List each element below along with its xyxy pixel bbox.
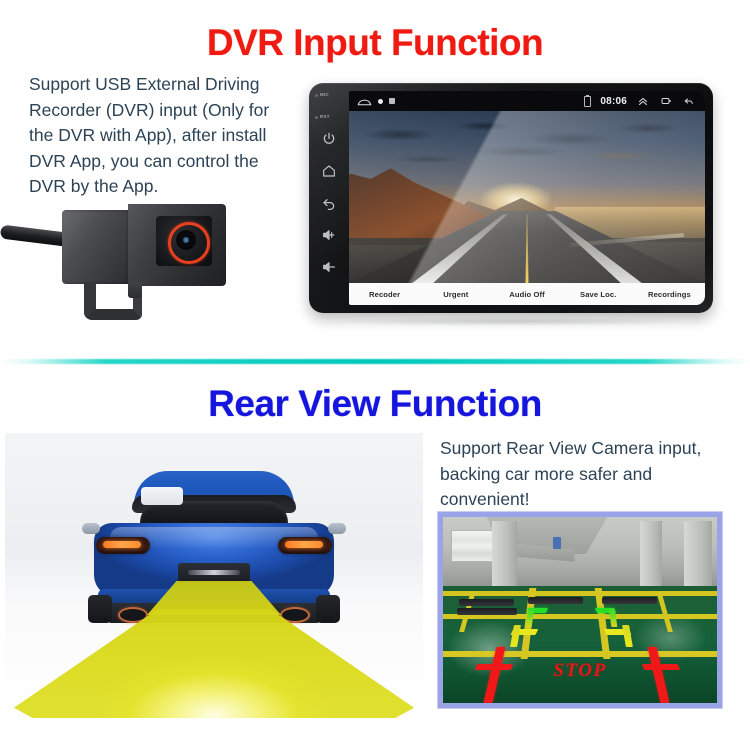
car-license-plate [178, 563, 250, 583]
back-arrow-icon[interactable] [682, 95, 696, 107]
toolbar-button-recoder[interactable]: Recoder [349, 290, 420, 299]
wallpaper-road-line-left [349, 214, 513, 283]
car-taillight-right [278, 537, 332, 554]
toolbar-button-audio-off[interactable]: Audio Off [491, 290, 562, 299]
toolbar-button-recordings[interactable]: Recordings [634, 290, 705, 299]
notification-badge-icon [389, 98, 395, 104]
wheel-stopper [602, 597, 657, 604]
guideline-near-left [475, 664, 513, 670]
mic-dot [315, 94, 318, 97]
home-arch-icon[interactable] [357, 96, 372, 106]
volume-up-icon[interactable] [321, 227, 337, 243]
mic-label: MIC [320, 92, 329, 97]
dvr-section-heading: DVR Input Function [0, 22, 750, 64]
wheel-stopper [528, 597, 583, 604]
head-unit-shadow [335, 317, 687, 326]
car-taillight-left [96, 537, 150, 554]
car-wheel-left [88, 595, 112, 623]
wallpaper-road-line-right [541, 214, 705, 283]
back-icon[interactable] [321, 195, 337, 211]
car-head-unit: MIC RST [309, 83, 713, 313]
status-bar-right: 08:06 [584, 95, 705, 107]
reset-dot [315, 116, 318, 119]
section-divider [0, 359, 750, 364]
camera-body-right [128, 204, 226, 286]
volume-down-icon[interactable] [321, 259, 337, 275]
double-chevron-up-icon[interactable] [636, 95, 650, 107]
wheel-stopper [457, 608, 517, 615]
toolbar-button-urgent[interactable]: Urgent [420, 290, 491, 299]
head-unit-side-controls: MIC RST [311, 87, 349, 309]
rear-view-camera-screenshot: STOP [438, 512, 722, 708]
dvr-app-toolbar: Recoder Urgent Audio Off Save Loc. Recor… [349, 283, 705, 305]
status-bar-clock: 08:06 [600, 96, 627, 107]
car-mirror-right [328, 523, 346, 534]
dvr-section-description: Support USB External Driving Recorder (D… [29, 72, 291, 200]
rear-view-section-description: Support Rear View Camera input, backing … [440, 436, 725, 513]
wheel-stopper [459, 599, 514, 606]
battery-icon [584, 96, 591, 107]
screen-wallpaper [349, 111, 705, 283]
car-wheel-right [316, 595, 340, 623]
camera-lens-plate [156, 216, 212, 266]
power-icon[interactable] [321, 131, 337, 147]
toolbar-button-save-loc[interactable]: Save Loc. [563, 290, 634, 299]
home-icon[interactable] [321, 163, 337, 179]
garage-sign [553, 537, 561, 548]
garage-pillar [684, 521, 711, 592]
camera-lens-reflection [183, 237, 189, 243]
garage-window [451, 530, 495, 562]
parking-line-horizontal [443, 651, 717, 657]
guideline-near-right [642, 664, 680, 670]
car-mirror-left [82, 523, 100, 534]
garage-pillar [492, 521, 517, 595]
reset-label: RST [320, 114, 330, 119]
camera-bracket-arm [128, 282, 142, 298]
rear-view-section-heading: Rear View Function [0, 383, 750, 425]
recent-apps-icon[interactable] [659, 95, 673, 107]
camera-body-left [62, 210, 130, 284]
android-status-bar: 08:06 [349, 91, 705, 111]
head-unit-screen[interactable]: 08:06 [349, 91, 705, 305]
car-window-reflection [141, 487, 183, 505]
dvr-camera-device [62, 196, 288, 326]
status-bar-left [349, 96, 395, 106]
blue-suv-rear-view-photo [5, 433, 423, 718]
stop-overlay-text: STOP [553, 660, 606, 682]
parking-line-horizontal [443, 591, 717, 596]
notification-dot [378, 99, 383, 104]
